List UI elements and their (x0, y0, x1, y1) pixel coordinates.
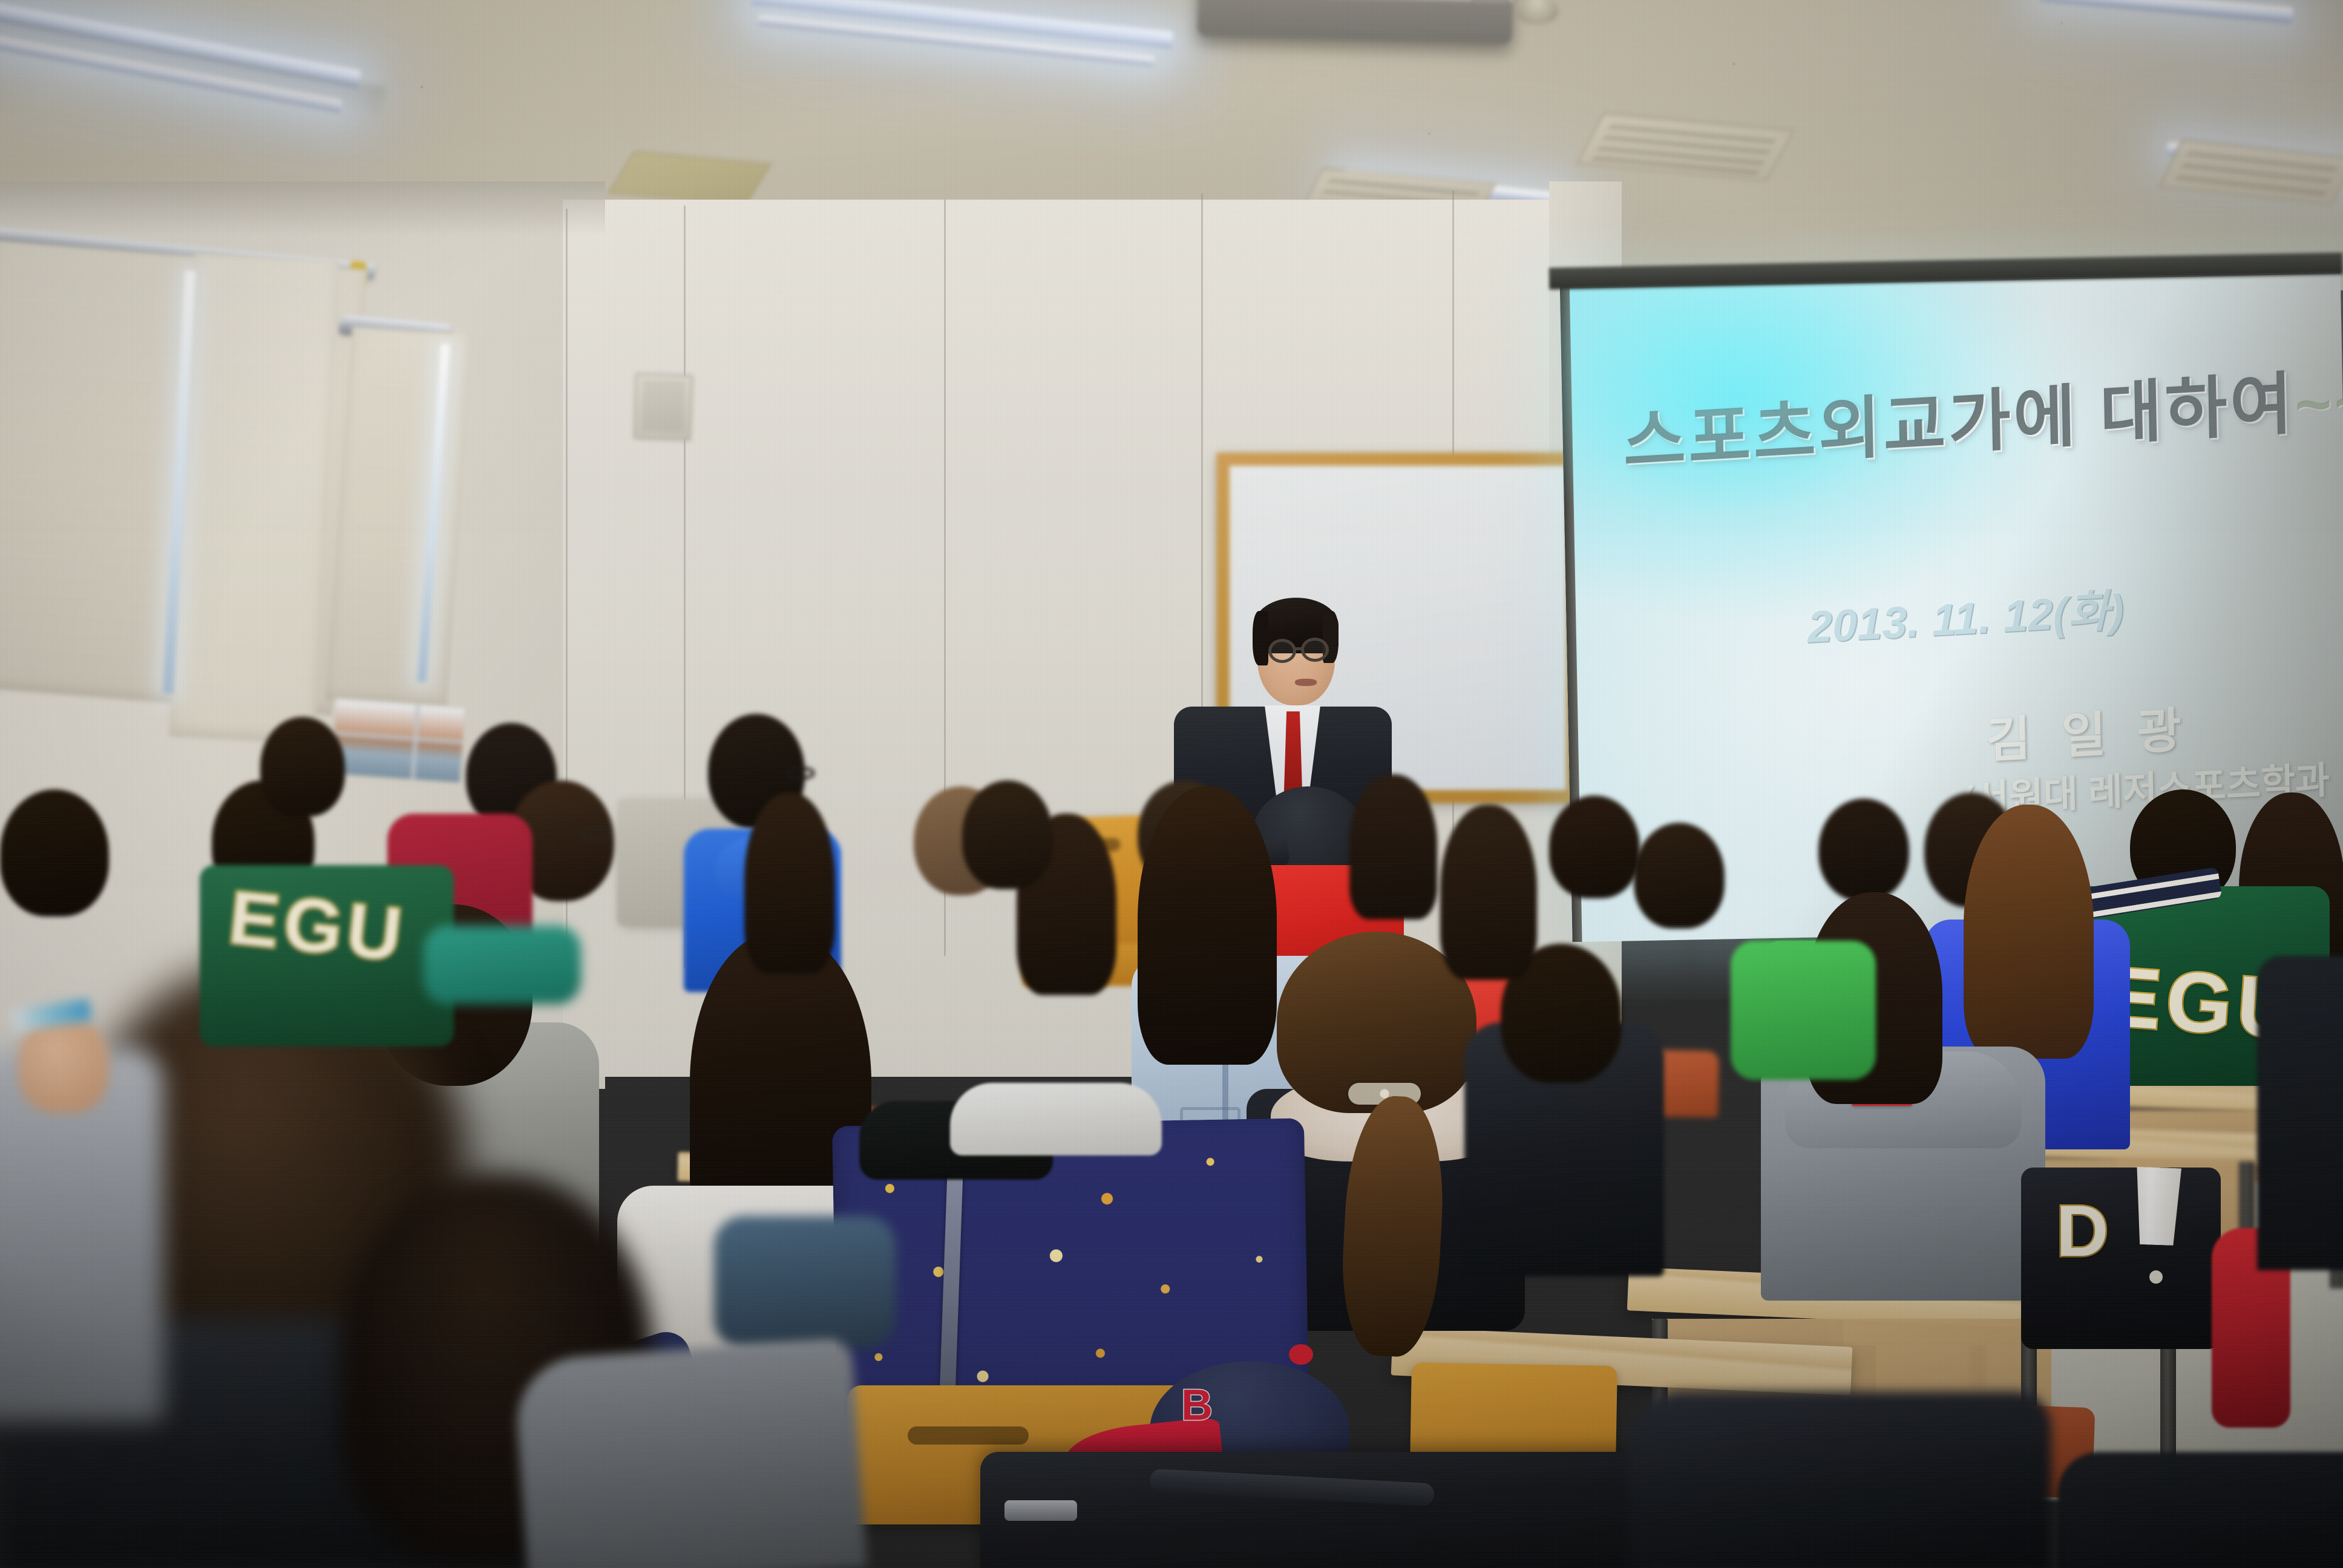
audience-member-head (1634, 823, 1725, 929)
long-hair (1138, 786, 1277, 1065)
wall-speaker (633, 373, 693, 441)
sprinkler-head (1516, 0, 1558, 24)
presenter-glasses (1268, 639, 1296, 663)
slide-date: 2013. 11. 12(화) (1807, 574, 2125, 656)
cap-button (1289, 1344, 1313, 1365)
long-hair (1349, 774, 1437, 920)
roller-blind (169, 253, 339, 743)
audience-member-head (744, 792, 835, 974)
letterman-jacket-letter: D (2056, 1189, 2113, 1273)
audience-member-head (1549, 795, 1640, 898)
foreground-dark-jacket-right (2057, 1452, 2343, 1568)
wall-top-shadow (0, 181, 605, 236)
audience-member-head (1440, 805, 1537, 980)
bag (714, 1216, 896, 1349)
audience-member-head (0, 789, 109, 916)
foreground-sleeve (513, 1338, 867, 1568)
head (1818, 799, 1909, 901)
window (329, 697, 468, 785)
cap-logo: B (1181, 1380, 1213, 1430)
presenter-glasses (1301, 638, 1329, 662)
varsity-jacket-text: EGU (224, 874, 410, 979)
presenter-hair-side (1253, 611, 1268, 665)
long-hair (1964, 805, 2094, 1059)
jacket-snap-button (2149, 1270, 2163, 1284)
green-backpack (1731, 941, 1876, 1080)
slide-title-text: 스포츠외교가에 대하여 (1623, 366, 2296, 480)
bag-buckle (1004, 1500, 1077, 1521)
black-duffel-bag (980, 1452, 1640, 1568)
eyeglasses (581, 828, 612, 841)
letterman-jacket-d (2021, 1168, 2221, 1349)
chair-handle-slot (908, 1426, 1029, 1445)
slide-title: 스포츠외교가에 대하여~~~ (1622, 342, 2343, 485)
projector-vent (1473, 0, 1509, 3)
audience-member-head (962, 780, 1053, 889)
presenter-glasses-bridge (1295, 647, 1303, 650)
foreground-dark-jacket (1628, 1391, 2051, 1568)
presenter-mouth (1295, 679, 1317, 686)
teal-jacket (424, 926, 581, 1004)
lecture-hall-photo: 스포츠외교가에 대하여~~~ 2013. 11. 12(화) 김 일 광 (서원… (0, 0, 2343, 1568)
audience-member-right-edge (2257, 956, 2343, 1270)
foreground-hand (18, 1016, 109, 1113)
inner-collar (950, 1083, 1162, 1155)
audience-member-head (260, 717, 345, 817)
slide-title-tilde: ~~~ (2294, 364, 2343, 440)
eyeglasses (787, 767, 814, 779)
